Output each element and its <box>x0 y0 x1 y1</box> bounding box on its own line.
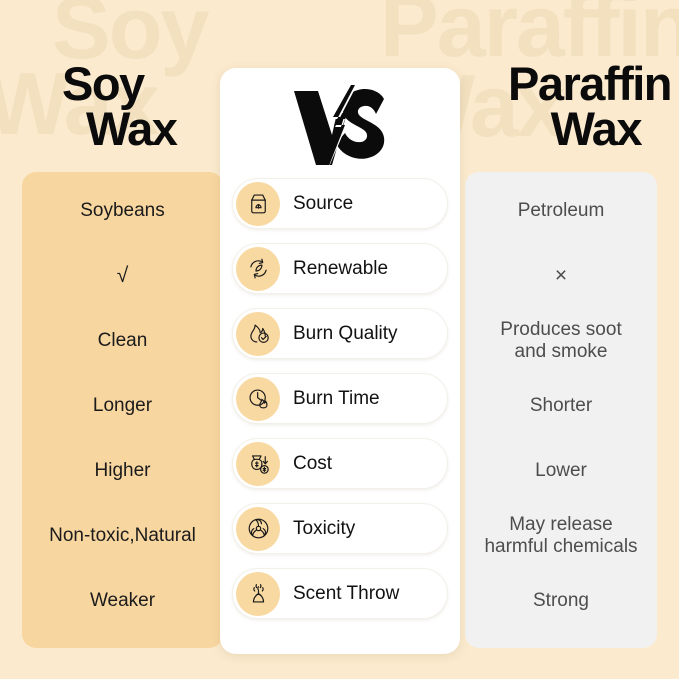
title-paraffin-line2: Wax <box>508 107 641 152</box>
paraffin-value: Produces sootand smoke <box>465 308 657 373</box>
feature-row[interactable]: Cost <box>232 438 448 489</box>
flame-check-icon <box>236 312 280 356</box>
soy-value: Non-toxic,Natural <box>22 503 223 568</box>
soy-value: √ <box>22 243 223 308</box>
paraffin-value: Shorter <box>465 373 657 438</box>
comparison-infographic: Soy Wax Paraffin Wax Soy Wax Paraffin Wa… <box>0 0 679 679</box>
paraffin-value-line1: Produces soot <box>500 319 621 340</box>
feature-row[interactable]: Burn Quality <box>232 308 448 359</box>
feature-label: Burn Quality <box>293 323 398 345</box>
paraffin-value: Petroleum <box>465 178 657 243</box>
feature-label: Renewable <box>293 258 388 280</box>
feature-row[interactable]: Toxicity <box>232 503 448 554</box>
money-bag-icon <box>236 442 280 486</box>
soy-value: Clean <box>22 308 223 373</box>
paraffin-value: × <box>465 243 657 308</box>
soy-wax-values-panel: Soybeans√CleanLongerHigherNon-toxic,Natu… <box>22 172 223 648</box>
paraffin-wax-values-panel: Petroleum×Produces sootand smokeShorterL… <box>465 172 657 648</box>
feature-row[interactable]: Source <box>232 178 448 229</box>
soy-wax-value-list: Soybeans√CleanLongerHigherNon-toxic,Natu… <box>22 172 223 648</box>
feature-row[interactable]: Scent Throw <box>232 568 448 619</box>
feature-label: Cost <box>293 453 332 475</box>
title-soy-line2: Wax <box>86 107 176 152</box>
title-paraffin-wax: Paraffin Wax <box>508 62 671 151</box>
soy-value: Longer <box>22 373 223 438</box>
paraffin-value: Lower <box>465 438 657 503</box>
soy-value: Higher <box>22 438 223 503</box>
paraffin-value-line2: and smoke <box>500 341 621 362</box>
paraffin-value: May releaseharmful chemicals <box>465 503 657 568</box>
soy-value: Soybeans <box>22 178 223 243</box>
center-comparison-card: Source Renewable Burn Quality Burn Time <box>220 68 460 654</box>
feature-row-list: Source Renewable Burn Quality Burn Time <box>232 178 448 633</box>
feature-row[interactable]: Burn Time <box>232 373 448 424</box>
paraffin-value-line2: harmful chemicals <box>484 536 637 557</box>
feature-label: Scent Throw <box>293 583 399 605</box>
biohazard-icon <box>236 507 280 551</box>
soy-value: Weaker <box>22 568 223 633</box>
title-soy-wax: Soy Wax <box>62 62 176 151</box>
recycle-leaf-icon <box>236 247 280 291</box>
vs-lightning-icon <box>220 80 460 172</box>
scent-sachet-icon <box>236 572 280 616</box>
feature-label: Burn Time <box>293 388 380 410</box>
clock-flame-icon <box>236 377 280 421</box>
feature-label: Source <box>293 193 353 215</box>
paraffin-value: Strong <box>465 568 657 633</box>
feature-label: Toxicity <box>293 518 355 540</box>
paraffin-wax-value-list: Petroleum×Produces sootand smokeShorterL… <box>465 172 657 648</box>
paraffin-value-line1: May release <box>484 514 637 535</box>
sack-icon <box>236 182 280 226</box>
feature-row[interactable]: Renewable <box>232 243 448 294</box>
